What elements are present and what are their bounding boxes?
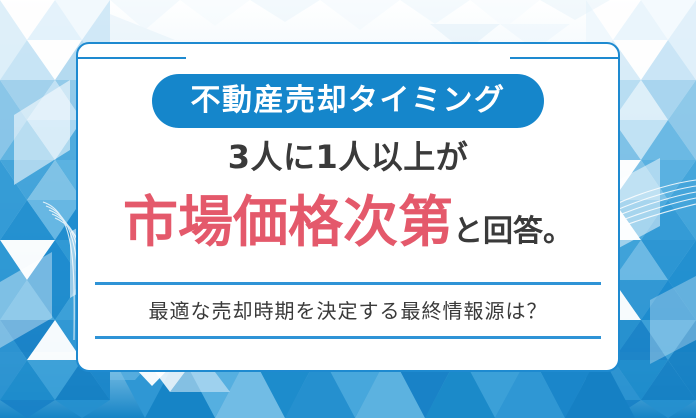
category-badge-label: 不動産売却タイミング — [191, 86, 506, 116]
category-badge: 不動産売却タイミング — [152, 74, 544, 128]
headline-line-1: 3人に1人以上が — [76, 141, 620, 173]
poster-canvas: 不動産売却タイミング 3人に1人以上が 市場価格次第と回答。 最適な売却時期を決… — [0, 0, 696, 418]
headline-highlight: 市場価格次第 — [123, 190, 453, 254]
headline-line-2: 市場価格次第と回答。 — [76, 195, 620, 250]
headline-tail: と回答。 — [453, 214, 573, 249]
question-block: 最適な売却時期を決定する最終情報源は？ — [95, 282, 601, 339]
question-text: 最適な売却時期を決定する最終情報源は？ — [95, 285, 601, 336]
question-rule-bottom — [95, 336, 601, 339]
